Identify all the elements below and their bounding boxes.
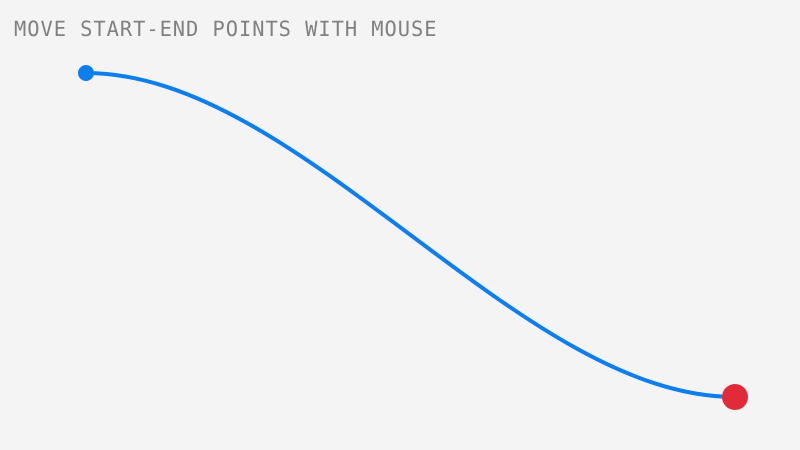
start-point-handle[interactable]: [78, 65, 94, 81]
bezier-curve: [86, 73, 735, 397]
end-point-handle[interactable]: [722, 384, 748, 410]
bezier-editor-canvas[interactable]: MOVE START-END POINTS WITH MOUSE: [0, 0, 800, 450]
curve-stage[interactable]: [0, 0, 800, 450]
